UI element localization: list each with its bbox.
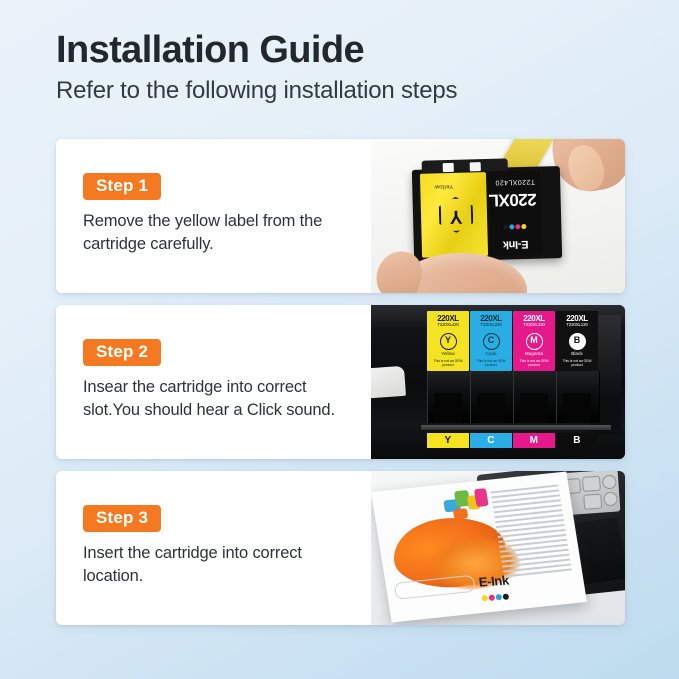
cartridge-brand: E-Ink bbox=[493, 219, 538, 250]
step-card-3: Step 3 Insert the cartridge into correct… bbox=[56, 471, 625, 625]
label-warning: This is not an OEM product bbox=[427, 359, 469, 368]
step-2-text: Step 2 Insear the cartridge into correct… bbox=[56, 305, 371, 459]
cartridge-yellow-face: Yellow Y bbox=[420, 172, 488, 258]
color-bar-black: B bbox=[556, 433, 598, 448]
step-1-badge: Step 1 bbox=[83, 173, 161, 200]
step-3-description: Insert the cartridge into correct locati… bbox=[83, 542, 351, 589]
steps-list: Step 1 Remove the yellow label from the … bbox=[56, 139, 625, 637]
step-2-description: Insear the cartridge into correct slot.Y… bbox=[83, 376, 351, 423]
printer-stop-icon bbox=[603, 492, 618, 507]
step-1-photo: Yellow Y T220XL420 220XL E-Ink bbox=[371, 139, 625, 293]
step-card-2: Step 2 Insear the cartridge into correct… bbox=[56, 305, 625, 459]
cartridge-body bbox=[470, 371, 514, 423]
color-bar-letter: M bbox=[513, 433, 555, 448]
cartridge-body bbox=[513, 371, 557, 423]
printed-text-column bbox=[490, 484, 572, 580]
printed-field-outline bbox=[394, 575, 476, 600]
cartridge-color-name: Yellow bbox=[434, 183, 453, 189]
label-color-name: Black bbox=[556, 351, 598, 356]
brand-name: E-Ink bbox=[494, 238, 538, 250]
label-warning: This is not an OEM product bbox=[513, 359, 555, 368]
paper-edge bbox=[371, 366, 406, 398]
page-title: Installation Guide bbox=[56, 30, 626, 71]
label-letter: M bbox=[526, 333, 543, 350]
label-warning: This is not an OEM product bbox=[556, 359, 598, 368]
color-bar-cyan: C bbox=[470, 433, 512, 448]
installation-guide-page: Installation Guide Refer to the followin… bbox=[0, 0, 679, 679]
label-color-name: Cyan bbox=[470, 351, 512, 356]
cartridge-black-face: T220XL420 220XL E-Ink bbox=[488, 171, 542, 256]
page-header: Installation Guide Refer to the followin… bbox=[56, 30, 626, 105]
label-code: T220XL120 bbox=[556, 323, 598, 328]
brand-color-dots bbox=[493, 219, 537, 238]
label-code: T220XL320 bbox=[513, 323, 555, 328]
step-3-photo: E-Ink bbox=[371, 471, 625, 625]
cartridge-top-clip bbox=[422, 158, 508, 172]
printed-brand-logo: E-Ink bbox=[478, 574, 512, 607]
label-letter: B bbox=[569, 333, 586, 350]
printer-button-icon bbox=[582, 476, 601, 492]
page-subtitle: Refer to the following installation step… bbox=[56, 77, 626, 105]
label-letter: Y bbox=[440, 333, 457, 350]
step-3-text: Step 3 Insert the cartridge into correct… bbox=[56, 471, 371, 625]
cartridge-label-magenta: 220XL T220XL320 M Magenta This is not an… bbox=[513, 311, 555, 371]
cartridge-label-yellow: 220XL T220XL420 Y Yellow This is not an … bbox=[427, 311, 469, 371]
printer-power-icon bbox=[602, 475, 617, 490]
step-1-text: Step 1 Remove the yellow label from the … bbox=[56, 139, 371, 293]
cartridge-body bbox=[556, 371, 600, 423]
cartridge-slot-yellow: 220XL T220XL420 Y Yellow This is not an … bbox=[427, 311, 469, 423]
cartridge-slot-magenta: 220XL T220XL320 M Magenta This is not an… bbox=[513, 311, 555, 423]
label-letter: C bbox=[483, 333, 500, 350]
cartridge-color-letter: Y bbox=[439, 196, 474, 233]
step-card-1: Step 1 Remove the yellow label from the … bbox=[56, 139, 625, 293]
carriage-rail bbox=[421, 425, 611, 430]
brand-color-dots bbox=[480, 586, 512, 606]
color-bar-yellow: Y bbox=[427, 433, 469, 448]
color-bar-magenta: M bbox=[513, 433, 555, 448]
cartridge-code: T220XL420 bbox=[495, 178, 535, 186]
label-code: T220XL220 bbox=[470, 323, 512, 328]
color-bar-letter: C bbox=[470, 433, 512, 448]
step-2-badge: Step 2 bbox=[83, 339, 161, 366]
yellow-cartridge: Yellow Y T220XL420 220XL E-Ink bbox=[412, 166, 562, 262]
label-color-name: Magenta bbox=[513, 351, 555, 356]
cartridge-label-black: 220XL T220XL120 B Black This is not an O… bbox=[556, 311, 598, 371]
cartridge-body bbox=[427, 371, 471, 423]
step-1-description: Remove the yellow label from the cartrid… bbox=[83, 210, 351, 257]
label-code: T220XL420 bbox=[427, 323, 469, 328]
cartridge-slot-black: 220XL T220XL120 B Black This is not an O… bbox=[556, 311, 598, 423]
label-color-name: Yellow bbox=[427, 351, 469, 356]
label-warning: This is not an OEM product bbox=[470, 359, 512, 368]
cartridge-model: 220XL bbox=[492, 189, 537, 210]
step-2-photo: 220XL T220XL420 Y Yellow This is not an … bbox=[371, 305, 625, 459]
color-bar-letter: Y bbox=[427, 433, 469, 448]
cartridge-label-cyan: 220XL T220XL220 C Cyan This is not an OE… bbox=[470, 311, 512, 371]
color-bar-letter: B bbox=[556, 433, 598, 448]
printed-page: E-Ink bbox=[371, 472, 587, 623]
step-3-badge: Step 3 bbox=[83, 505, 161, 532]
cartridge-slot-cyan: 220XL T220XL220 C Cyan This is not an OE… bbox=[470, 311, 512, 423]
printer-button-icon bbox=[583, 494, 602, 510]
